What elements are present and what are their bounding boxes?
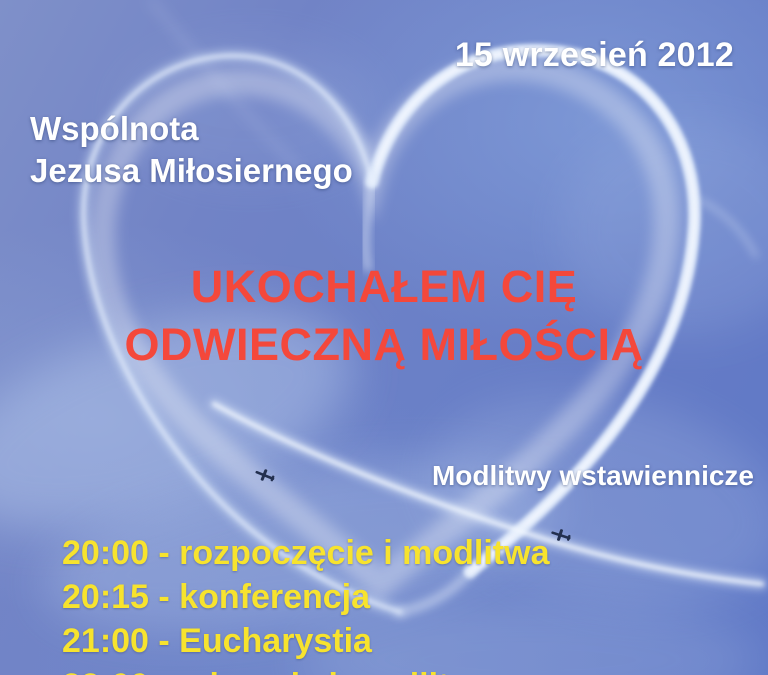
schedule-item: 20:15 - konferencja (62, 575, 549, 619)
community-name: Wspólnota Jezusa Miłosiernego (30, 108, 353, 192)
schedule-item: 20:00 - rozpoczęcie i modlitwa (62, 531, 549, 575)
heart-cleft-trail (365, 178, 372, 268)
intercessory-prayer-label: Modlitwy wstawiennicze (432, 460, 754, 492)
stray-contrail-wisp (700, 200, 756, 256)
event-date: 15 wrzesień 2012 (455, 36, 734, 75)
event-poster: 15 wrzesień 2012 Wspólnota Jezusa Miłosi… (0, 0, 768, 675)
schedule-item: 21:00 - Eucharystia (62, 619, 549, 663)
schedule-item: 22:00 - adoracja i modlitwa (62, 664, 549, 675)
poster-headline: UKOCHAŁEM CIĘ ODWIECZNĄ MIŁOŚCIĄ (0, 258, 768, 373)
schedule-list: 20:00 - rozpoczęcie i modlitwa 20:15 - k… (62, 531, 549, 675)
